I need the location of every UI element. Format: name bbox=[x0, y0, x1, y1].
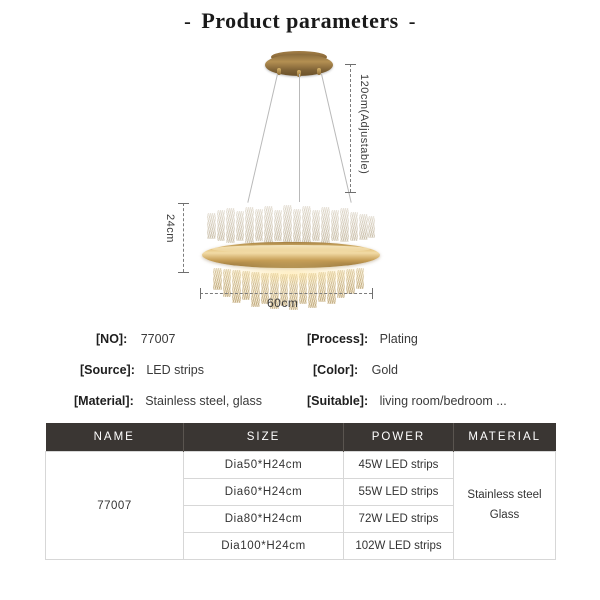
spec-material: [Material]: Stainless steel, glass bbox=[74, 394, 262, 408]
cell-name: 77007 bbox=[46, 452, 184, 560]
dimension-label-body-height: 24cm bbox=[164, 214, 176, 243]
cell-power: 55W LED strips bbox=[344, 479, 454, 506]
column-header-size: SIZE bbox=[184, 423, 344, 452]
glass-rods-top bbox=[205, 202, 377, 246]
page-title: -Product parameters- bbox=[0, 8, 600, 34]
cell-size: Dia50*H24cm bbox=[184, 452, 344, 479]
title-dash-left: - bbox=[174, 11, 201, 33]
spec-no: [NO]: 77007 bbox=[96, 332, 176, 346]
spec-material-key: [Material]: bbox=[74, 394, 134, 408]
spec-color: [Color]: Gold bbox=[313, 363, 398, 377]
dimension-cap-width-right bbox=[372, 288, 373, 299]
spec-no-value: 77007 bbox=[141, 332, 176, 346]
spec-list: [NO]: 77007 [Source]: LED strips [Materi… bbox=[0, 327, 600, 412]
spec-color-value: Gold bbox=[372, 363, 398, 377]
spec-suitable-value: living room/bedroom ... bbox=[380, 394, 507, 408]
column-header-material: MATERIAL bbox=[454, 423, 556, 452]
dimension-cap-body-top bbox=[178, 203, 189, 204]
spec-suitable-key: [Suitable]: bbox=[307, 394, 368, 408]
spec-process-value: Plating bbox=[380, 332, 418, 346]
title-text: Product parameters bbox=[201, 8, 398, 33]
specification-table: NAME SIZE POWER MATERIAL 77007 Dia50*H24… bbox=[45, 423, 556, 560]
spec-no-key: [NO]: bbox=[96, 332, 127, 346]
table-row: 77007 Dia50*H24cm 45W LED strips Stainle… bbox=[46, 452, 556, 479]
dimension-line-height bbox=[350, 64, 351, 192]
cell-size: Dia80*H24cm bbox=[184, 506, 344, 533]
spec-source-value: LED strips bbox=[146, 363, 204, 377]
cell-size: Dia60*H24cm bbox=[184, 479, 344, 506]
cell-size: Dia100*H24cm bbox=[184, 533, 344, 560]
dimension-cap-height-top bbox=[345, 64, 356, 65]
suspension-cable-left bbox=[247, 74, 278, 203]
suspension-cable-center bbox=[299, 74, 300, 202]
dimension-label-height: 120cm(Adjustable) bbox=[358, 74, 370, 174]
column-header-name: NAME bbox=[46, 423, 184, 452]
spec-suitable: [Suitable]: living room/bedroom ... bbox=[307, 394, 507, 408]
table-header-row: NAME SIZE POWER MATERIAL bbox=[46, 423, 556, 452]
dimension-cap-height-bottom bbox=[345, 192, 356, 193]
dimension-cap-width-left bbox=[200, 288, 201, 299]
dimension-label-width: 60cm bbox=[267, 296, 298, 310]
title-dash-right: - bbox=[399, 11, 426, 33]
dimension-line-body-height bbox=[183, 203, 184, 272]
column-header-power: POWER bbox=[344, 423, 454, 452]
spec-process-key: [Process]: bbox=[307, 332, 368, 346]
product-diagram: 120cm(Adjustable) 24cm 60cm bbox=[0, 42, 600, 317]
cell-power: 45W LED strips bbox=[344, 452, 454, 479]
spec-source: [Source]: LED strips bbox=[80, 363, 204, 377]
spec-color-key: [Color]: bbox=[313, 363, 358, 377]
cell-power: 102W LED strips bbox=[344, 533, 454, 560]
cell-power: 72W LED strips bbox=[344, 506, 454, 533]
suspension-cable-right bbox=[321, 74, 352, 203]
cell-material-line-1: Stainless steel bbox=[456, 486, 553, 506]
spec-material-value: Stainless steel, glass bbox=[145, 394, 262, 408]
cell-material-line-2: Glass bbox=[456, 506, 553, 526]
spec-source-key: [Source]: bbox=[80, 363, 135, 377]
gold-ring-highlight bbox=[212, 245, 370, 253]
cell-material: Stainless steel Glass bbox=[454, 452, 556, 560]
dimension-cap-body-bottom bbox=[178, 272, 189, 273]
dimension-line-width bbox=[200, 293, 372, 294]
spec-process: [Process]: Plating bbox=[307, 332, 418, 346]
